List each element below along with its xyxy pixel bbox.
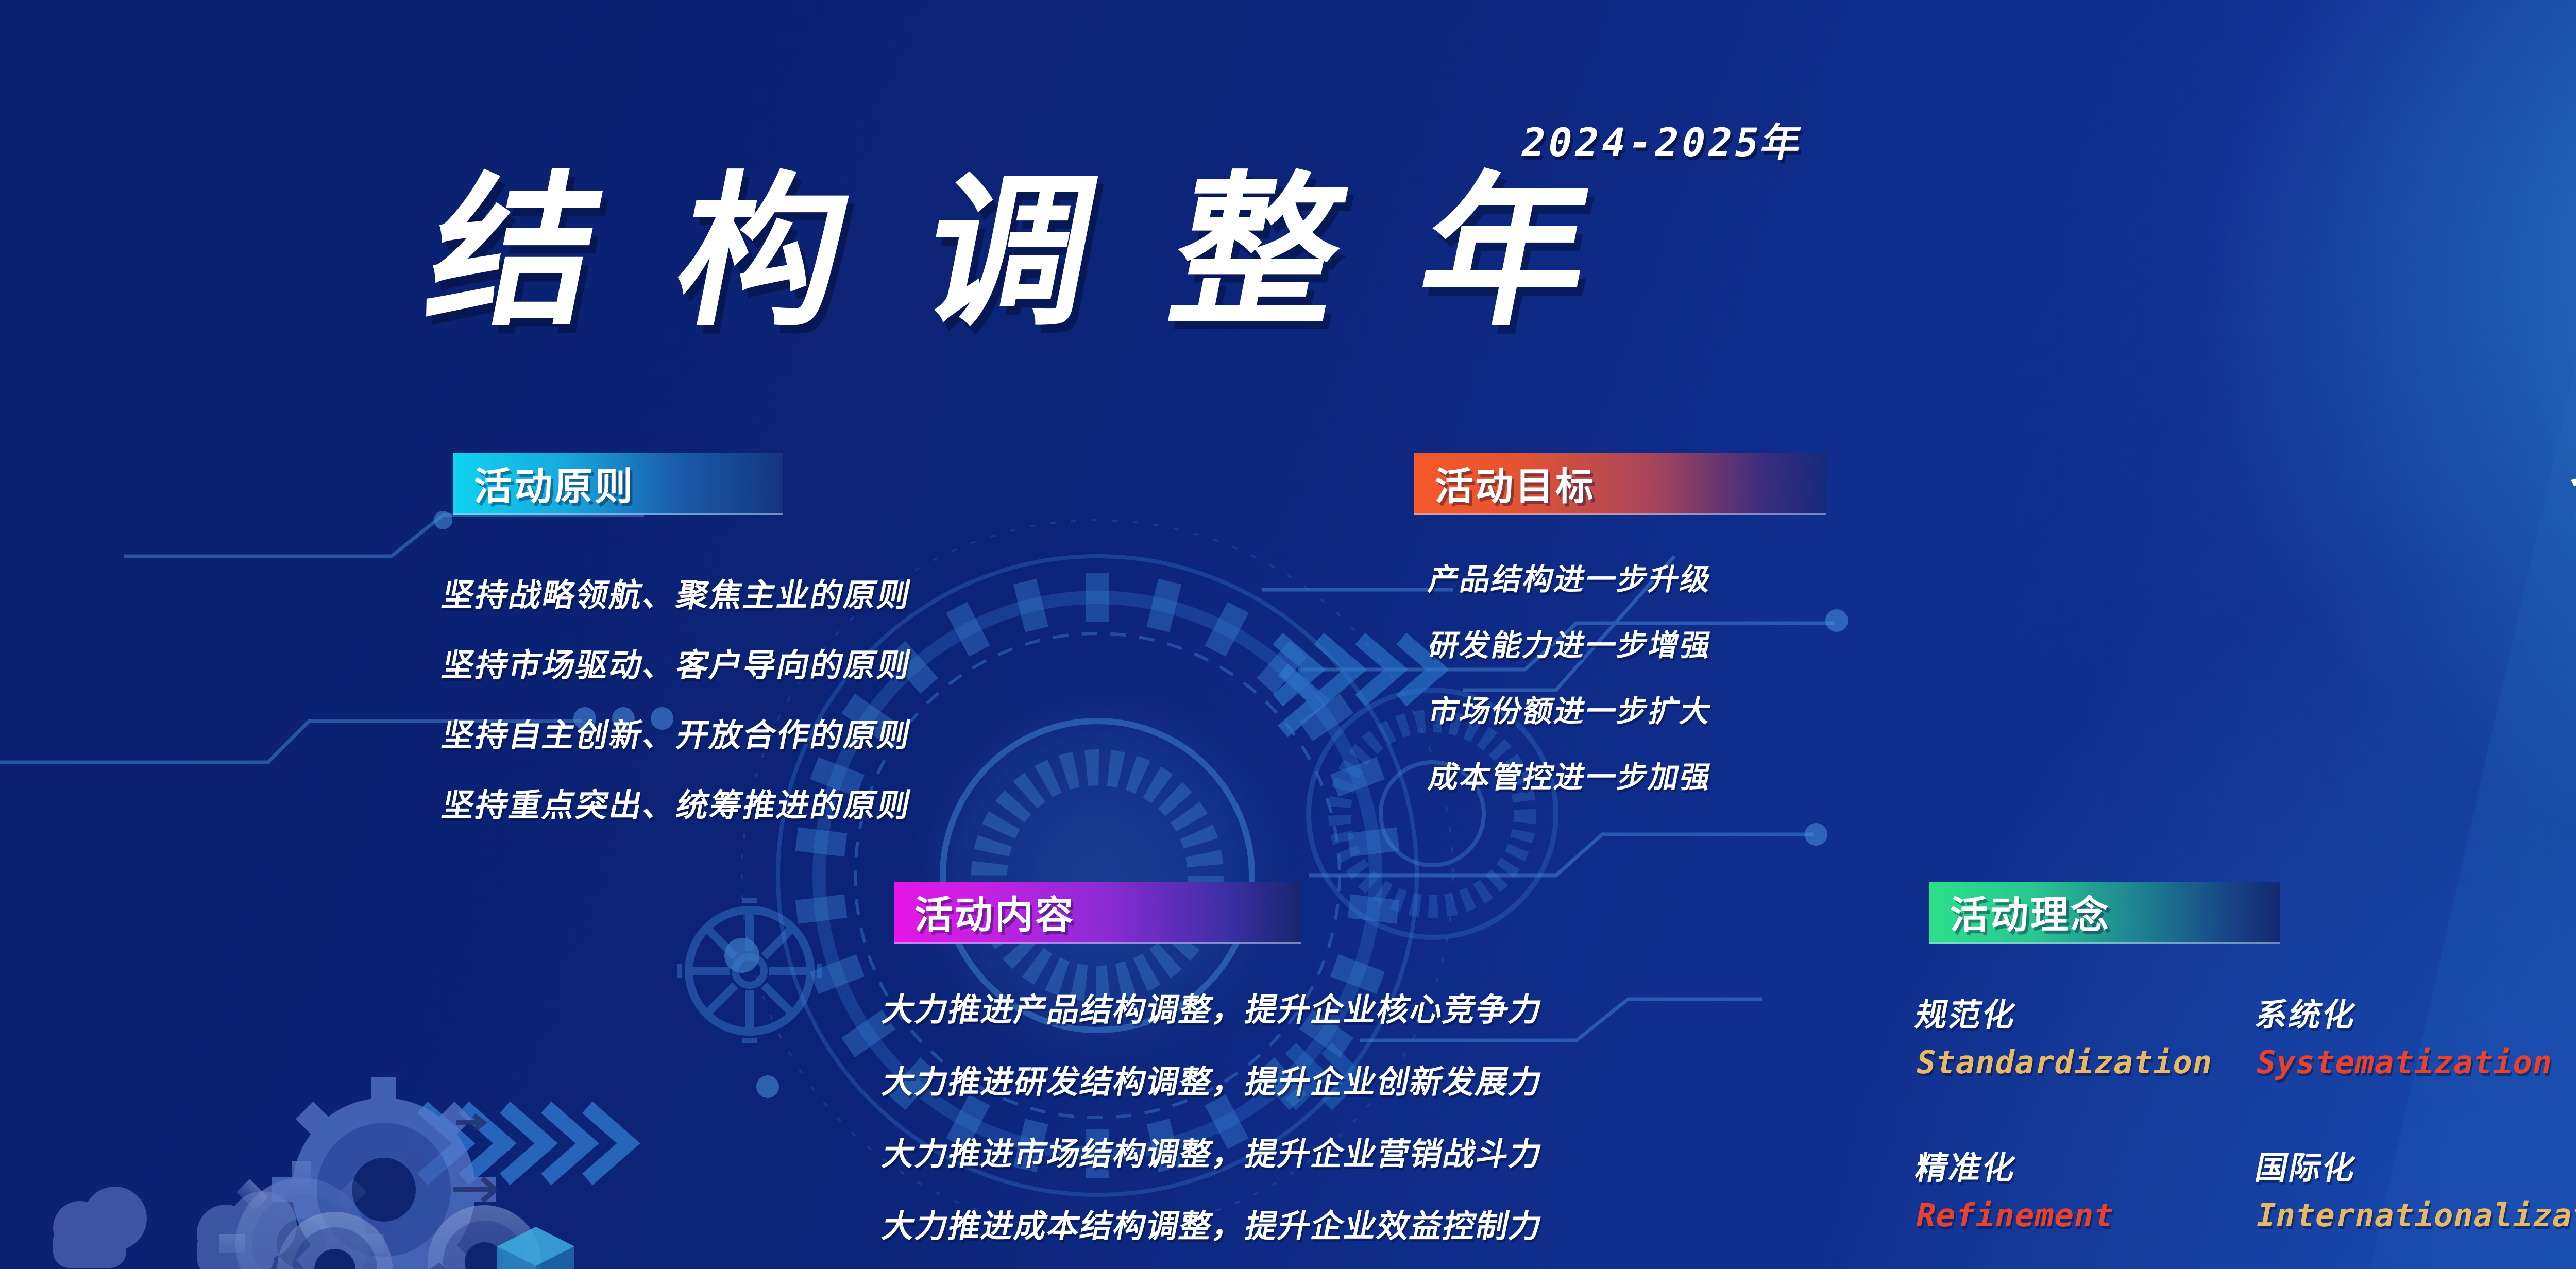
section-header-concept: 活动理念 (1929, 882, 2280, 944)
list-item: 坚持市场驱动、客户导向的原则 (438, 639, 917, 685)
list-item: 大力推进产品结构调整，提升企业核心竞争力 (879, 984, 1548, 1030)
list-item: 大力推进研发结构调整，提升企业创新发展力 (879, 1056, 1548, 1102)
slogan-part-1: 调结构 (2573, 274, 2576, 349)
list-item: 坚持战略领航、聚焦主业的原则 (438, 569, 917, 615)
concept-grid: 规范化 Standardization 系统化 Systematization … (1917, 989, 2576, 1234)
list-item: 大力推进成本结构调整，提升企业效益控制力 (879, 1200, 1548, 1246)
concept-label-en: Refinement (1913, 1196, 2260, 1234)
list-item: 坚持重点突出、统筹推进的原则 (438, 779, 917, 826)
content-list: 大力推进产品结构调整，提升企业核心竞争力 大力推进研发结构调整，提升企业创新发展… (884, 984, 1543, 1269)
concept-pair: 规范化 Standardization (1917, 989, 2257, 1081)
concept-label-en: Systematization (2253, 1043, 2576, 1081)
list-item: 成本管控进一步加强 (1426, 753, 1717, 796)
year-range-label: 2024-2025年 (1517, 111, 1810, 167)
section-header-content-label: 活动内容 (914, 884, 1075, 939)
concept-pair: 国际化 Internationalization (2257, 1142, 2576, 1234)
list-item: 产品结构进一步升级 (1426, 555, 1717, 598)
cloud-shapes (53, 1187, 297, 1269)
list-item: 市场份额进一步扩大 (1426, 687, 1717, 730)
concept-label-cn: 精准化 (1912, 1142, 2261, 1188)
slogan-line-2: 奋进高质量发展新征程 (2561, 427, 2576, 529)
section-header-concept-label: 活动理念 (1950, 884, 2111, 939)
principles-list: 坚持战略领航、聚焦主业的原则 坚持市场驱动、客户导向的原则 坚持自主创新、开放合… (443, 569, 912, 849)
section-header-principles: 活动原则 (453, 453, 783, 515)
section-header-principles-label: 活动原则 (474, 456, 635, 511)
goals-list: 产品结构进一步升级 研发能力进一步增强 市场份额进一步扩大 成本管控进一步加强 (1430, 555, 1713, 819)
poster-canvas: 2024-2025年 结 构 调 整 年 活动原则 坚持战略领航、聚焦主业的原则… (0, 0, 2576, 1269)
concept-label-cn: 系统化 (2252, 989, 2576, 1035)
section-header-goals-label: 活动目标 (1435, 456, 1596, 511)
list-item: 研发能力进一步增强 (1426, 621, 1717, 664)
list-item: 大力推进市场结构调整，提升企业营销战斗力 (879, 1128, 1548, 1174)
concept-label-en: Standardization (1913, 1043, 2260, 1081)
concept-label-cn: 国际化 (2252, 1142, 2576, 1188)
section-header-goals: 活动目标 (1414, 453, 1826, 515)
spoke-wheel (680, 901, 820, 1041)
concept-pair: 精准化 Refinement (1917, 1142, 2257, 1234)
concept-label-cn: 规范化 (1912, 989, 2261, 1035)
section-header-content: 活动内容 (894, 882, 1301, 944)
cube-shape (497, 1227, 574, 1269)
gear-cluster (53, 1077, 574, 1269)
concept-pair: 系统化 Systematization (2257, 989, 2576, 1081)
page-title: 结 构 调 整 年 (417, 170, 1623, 335)
slogan-line-1: 调结构促转型提效益 (2572, 258, 2576, 354)
list-item: 坚持自主创新、开放合作的原则 (438, 709, 917, 756)
concept-label-en: Internationalization (2253, 1196, 2576, 1234)
